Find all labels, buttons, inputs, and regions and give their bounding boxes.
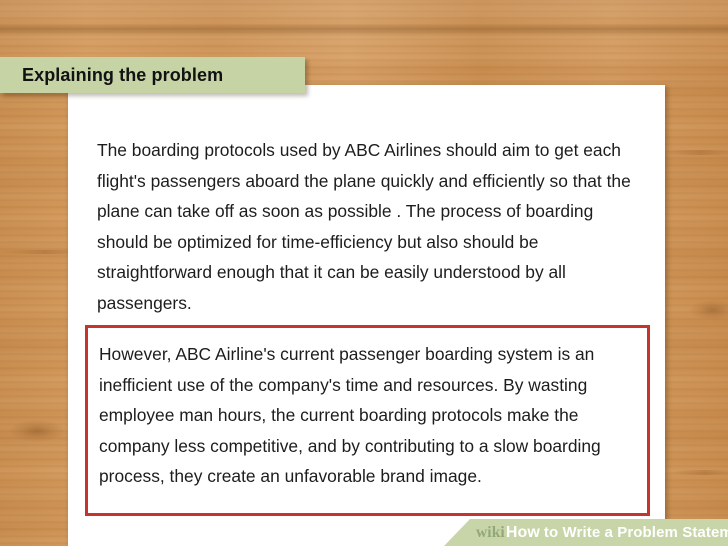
paragraph-problem-statement: However, ABC Airline's current passenger… (88, 328, 647, 492)
screenshot-stage: The boarding protocols used by ABC Airli… (0, 0, 728, 546)
wikihow-logo-how: How (506, 524, 540, 542)
document-body: The boarding protocols used by ABC Airli… (68, 85, 665, 546)
paragraph-intro: The boarding protocols used by ABC Airli… (97, 135, 640, 318)
problem-statement-callout: However, ABC Airline's current passenger… (85, 325, 650, 516)
watermark-text: wikiHowto Write a Problem Statement (476, 519, 728, 546)
wikihow-watermark: wikiHowto Write a Problem Statement (444, 519, 728, 546)
section-title-banner: Explaining the problem (0, 57, 305, 93)
wikihow-logo-wiki: wiki (476, 524, 505, 542)
watermark-article-title: to Write a Problem Statement (544, 524, 728, 541)
section-title-text: Explaining the problem (0, 65, 223, 86)
paper-sheet: The boarding protocols used by ABC Airli… (68, 85, 665, 546)
